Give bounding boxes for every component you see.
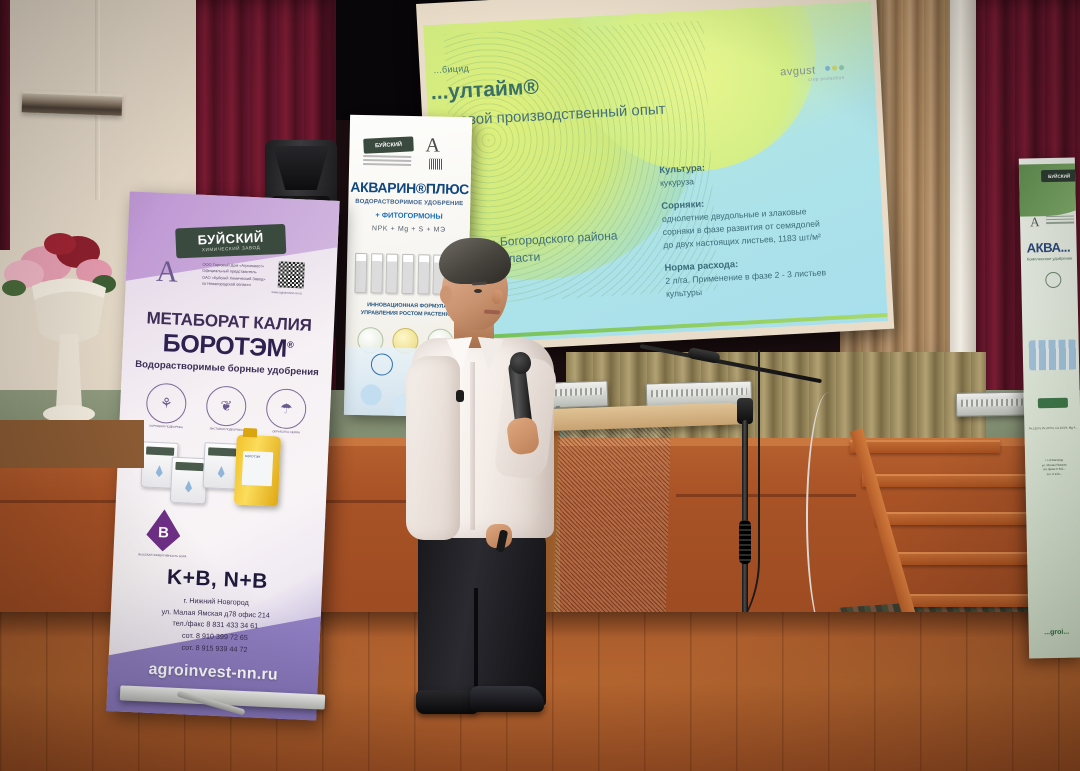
feature-glyph-2: ☂ [280, 400, 293, 418]
seal-icon-right [1045, 272, 1061, 288]
banner-right-address-3: сот. 8 910... [1047, 472, 1062, 476]
presenter-shoe-left [416, 690, 478, 714]
wall-vent [22, 90, 123, 115]
presenter-shirt-placket [470, 362, 475, 530]
sprayer-icon: ☂ ОБРАБОТКА СЕМЯН [265, 388, 307, 430]
banner-mid-sub1: ВОДОРАСТВОРИМОЕ УДОБРЕНИЕ [348, 199, 470, 208]
curtain-edge-left [0, 0, 10, 250]
boron-caption: ВЫСОКАЯ ЭФФЕКТИВНОСТЬ БОРА [127, 552, 197, 559]
seal-icon-mid [429, 158, 442, 169]
feature-glyph-0: ⚘ [160, 395, 173, 413]
presenter-ear [440, 286, 452, 304]
banner-mid-headline: АКВАРИН®ПЛЮС [348, 179, 470, 198]
presenter [396, 238, 586, 706]
qr-code-icon [278, 261, 305, 288]
seedling-icon: ⚘ КОРНЕВАЯ ПОДКОРМКА [145, 382, 187, 424]
buysky-logo-right: БУЙСКИЙ [1041, 169, 1077, 182]
banner-right-address: г. Н.Новгород ул. Малая Ямская тел./факс… [1029, 457, 1079, 477]
banner-right-address-2: тел./факс 8 831... [1043, 467, 1066, 471]
feature-caption-0: КОРНЕВАЯ ПОДКОРМКА [141, 423, 191, 429]
presenter-eye [474, 289, 482, 293]
registered-mark: ® [287, 339, 294, 349]
slide-block-line-0-0: кукуруза [660, 176, 694, 188]
presenter-trousers [418, 526, 546, 706]
slide-eyebrow: ...бицид [433, 63, 469, 75]
boron-symbol: B [158, 524, 170, 541]
product-canister-label: БОРОТЭМ [242, 451, 274, 486]
slide-detail-column: Культура: кукуруза Сорняки: однолетние д… [659, 151, 881, 300]
qr-caption: www.agroinvest-nn.ru [271, 290, 302, 295]
banner-mid-formula: NPK + Mg + S + МЭ [348, 225, 470, 235]
buysky-logo-right-text: БУЙСКИЙ [1048, 173, 1070, 178]
boron-droplet-icon: B [146, 509, 182, 552]
banner-right-chip [1038, 398, 1068, 409]
presentation-scene: ...бицид ...ултайм® ...олевой производст… [0, 0, 1080, 771]
buysky-logo-mid-text: БУЙСКИЙ [375, 141, 402, 148]
stair-step-1 [850, 440, 1000, 453]
banner-right-spec: Рк 12/У4, Рк 27/У4, Са 32/У4, Мg 4... [1028, 425, 1078, 431]
leaf-drop-icon: ❦ ЛИСТОВАЯ ПОДКОРМКА [205, 385, 247, 427]
banner-left-address: г. Нижний Новгород ул. Малая Ямская д78 … [109, 592, 321, 658]
presenter-hand-holding-mic [506, 416, 541, 456]
banner-mid-textlines [363, 155, 411, 168]
buysky-logo-mid: БУЙСКИЙ [363, 136, 414, 153]
banner-right-headline: АКВА... [1026, 240, 1070, 256]
banner-right-textlines [1046, 215, 1074, 225]
white-column [950, 0, 976, 400]
slide-block-line-2-1: культуры [666, 287, 702, 299]
feature-glyph-1: ❦ [220, 397, 232, 415]
avgust-logo-dots [823, 61, 845, 74]
vase-table [0, 420, 144, 468]
banner-left-formula: K+B, N+B [112, 563, 323, 597]
monogram-icon-mid: A [425, 134, 440, 157]
presenter-arm-left [406, 356, 460, 540]
presenter-shoe-right [470, 686, 544, 712]
banner-left-packs [137, 435, 310, 521]
stair-step-2 [862, 474, 1032, 487]
buysky-logo-left: БУЙСКИЙ ХИМИЧЕСКИЙ ЗАВОД [175, 224, 286, 259]
vase-stem [56, 334, 82, 408]
feature-caption-2: ОБРАБОТКА СЕМЯН [261, 429, 311, 435]
banner-right-website: ...groi... [1029, 628, 1080, 636]
flower-vase [0, 222, 144, 468]
presenter-hair [439, 238, 511, 284]
banner-akvarin-right: БУЙСКИЙ A АКВА... Комплексное удобрение … [1019, 157, 1080, 658]
banner-mid-sub2: + ФИТОГОРМОНЫ [348, 210, 470, 222]
lapel-microphone-icon [456, 390, 464, 402]
monogram-icon-right: A [1030, 214, 1040, 230]
product-canister: БОРОТЭМ [234, 435, 281, 507]
banner-left-headline-main-text: БОРОТЭМ [162, 329, 287, 363]
buysky-logo-left-line2: ХИМИЧЕСКИЙ ЗАВОД [202, 245, 261, 252]
banner-right-products [1029, 339, 1078, 370]
presenter-nose [492, 290, 503, 304]
stair-handrail[interactable] [850, 428, 921, 635]
banner-right-subtitle: Комплексное удобрение [1027, 256, 1073, 262]
monogram-icon-left: A [155, 255, 191, 297]
banner-left-features: ⚘ КОРНЕВАЯ ПОДКОРМКА ❦ ЛИСТОВАЯ ПОДКОРМК… [145, 382, 307, 429]
avgust-logo: avgust crop protection [780, 61, 845, 83]
